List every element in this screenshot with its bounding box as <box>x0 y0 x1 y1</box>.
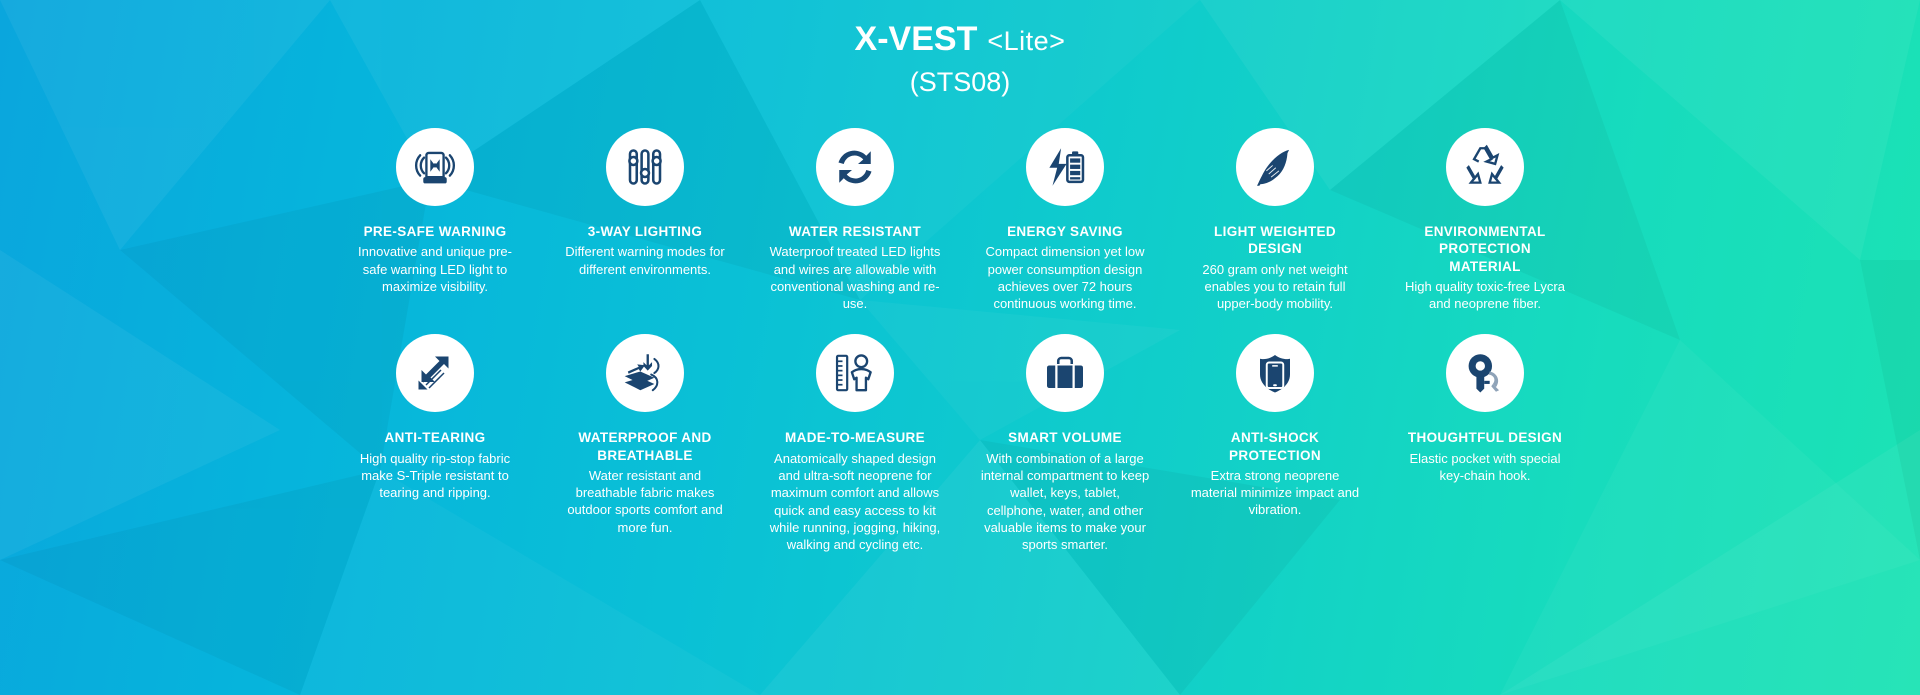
icon-badge <box>1446 334 1524 412</box>
variant-name: <Lite> <box>987 26 1065 56</box>
feature-description: Innovative and unique pre-safe warning L… <box>349 243 521 295</box>
warning-beacon-icon <box>410 142 460 192</box>
feature-item: ANTI-SHOCK PROTECTION Extra strong neopr… <box>1188 334 1363 553</box>
feature-title: ENERGY SAVING <box>1007 223 1123 240</box>
model-number: (STS08) <box>0 69 1920 96</box>
icon-badge <box>1026 128 1104 206</box>
feature-description: 260 gram only net weight enables you to … <box>1189 261 1361 313</box>
feature-description: Extra strong neoprene material minimize … <box>1189 467 1361 519</box>
icon-badge <box>606 334 684 412</box>
feature-title: LIGHT WEIGHTED DESIGN <box>1188 223 1363 258</box>
feature-item: THOUGHTFUL DESIGN Elastic pocket with sp… <box>1398 334 1573 553</box>
feature-item: ANTI-TEARING High quality rip-stop fabri… <box>348 334 523 553</box>
infographic-page: X-VEST<Lite> (STS08) <box>0 0 1920 695</box>
icon-badge <box>1446 128 1524 206</box>
feature-description: Waterproof treated LED lights and wires … <box>769 243 941 312</box>
feature-title: SMART VOLUME <box>1008 429 1122 446</box>
feature-item: ENVIRONMENTAL PROTECTION MATERIAL High q… <box>1398 128 1573 312</box>
feature-title: ENVIRONMENTAL PROTECTION MATERIAL <box>1424 223 1545 275</box>
feature-description: Anatomically shaped design and ultra-sof… <box>769 450 941 554</box>
icon-badge <box>396 334 474 412</box>
icon-badge <box>1236 128 1314 206</box>
recycle-triangle-icon <box>1460 142 1510 192</box>
feature-item: WATERPROOF AND BREATHABLE Water resistan… <box>558 334 733 553</box>
tear-resistant-arrow-icon <box>411 349 459 397</box>
battery-bolt-icon <box>1040 142 1090 192</box>
feature-item: MADE-TO-MEASURE Anatomically shaped desi… <box>768 334 943 553</box>
feature-title: ANTI-TEARING <box>385 429 486 446</box>
feature-title: 3-WAY LIGHTING <box>588 223 702 240</box>
feature-description: Water resistant and breathable fabric ma… <box>559 467 731 536</box>
icon-badge <box>816 128 894 206</box>
feature-description: High quality toxic-free Lycra and neopre… <box>1399 278 1571 313</box>
sliders-icon <box>621 143 669 191</box>
breathable-fabric-icon <box>620 348 670 398</box>
feature-title: WATER RESISTANT <box>789 223 921 240</box>
briefcase-icon <box>1041 349 1089 397</box>
title-block: X-VEST<Lite> (STS08) <box>0 22 1920 96</box>
feature-item: WATER RESISTANT Waterproof treated LED l… <box>768 128 943 312</box>
feature-description: Elastic pocket with special key-chain ho… <box>1399 450 1571 485</box>
feature-item: SMART VOLUME With combination of a large… <box>978 334 1153 553</box>
icon-badge <box>1026 334 1104 412</box>
feature-description: With combination of a large internal com… <box>979 450 1151 554</box>
ruler-person-icon <box>830 348 880 398</box>
key-hook-icon <box>1460 348 1510 398</box>
feature-title: WATERPROOF AND BREATHABLE <box>578 429 711 464</box>
feature-item: LIGHT WEIGHTED DESIGN 260 gram only net … <box>1188 128 1363 312</box>
feature-description: Compact dimension yet low power consumpt… <box>979 243 1151 312</box>
feature-title: ANTI-SHOCK PROTECTION <box>1188 429 1363 464</box>
brand-name: X-VEST <box>855 20 978 58</box>
feather-icon <box>1250 142 1300 192</box>
feature-row-2: ANTI-TEARING High quality rip-stop fabri… <box>0 334 1920 553</box>
icon-badge <box>606 128 684 206</box>
feature-title: PRE-SAFE WARNING <box>364 223 507 240</box>
feature-description: High quality rip-stop fabric make S-Trip… <box>349 450 521 502</box>
feature-item: 3-WAY LIGHTING Different warning modes f… <box>558 128 733 312</box>
feature-title: THOUGHTFUL DESIGN <box>1408 429 1562 446</box>
icon-badge <box>816 334 894 412</box>
feature-row-1: PRE-SAFE WARNING Innovative and unique p… <box>0 128 1920 312</box>
icon-badge <box>1236 334 1314 412</box>
product-title: X-VEST<Lite> <box>0 22 1920 56</box>
feature-title: MADE-TO-MEASURE <box>785 429 925 446</box>
feature-item: ENERGY SAVING Compact dimension yet low … <box>978 128 1153 312</box>
feature-description: Different warning modes for different en… <box>559 243 731 278</box>
feature-item: PRE-SAFE WARNING Innovative and unique p… <box>348 128 523 312</box>
icon-badge <box>396 128 474 206</box>
content-root: X-VEST<Lite> (STS08) <box>0 0 1920 695</box>
shield-phone-icon <box>1251 349 1299 397</box>
recycle-arrows-icon <box>831 143 879 191</box>
